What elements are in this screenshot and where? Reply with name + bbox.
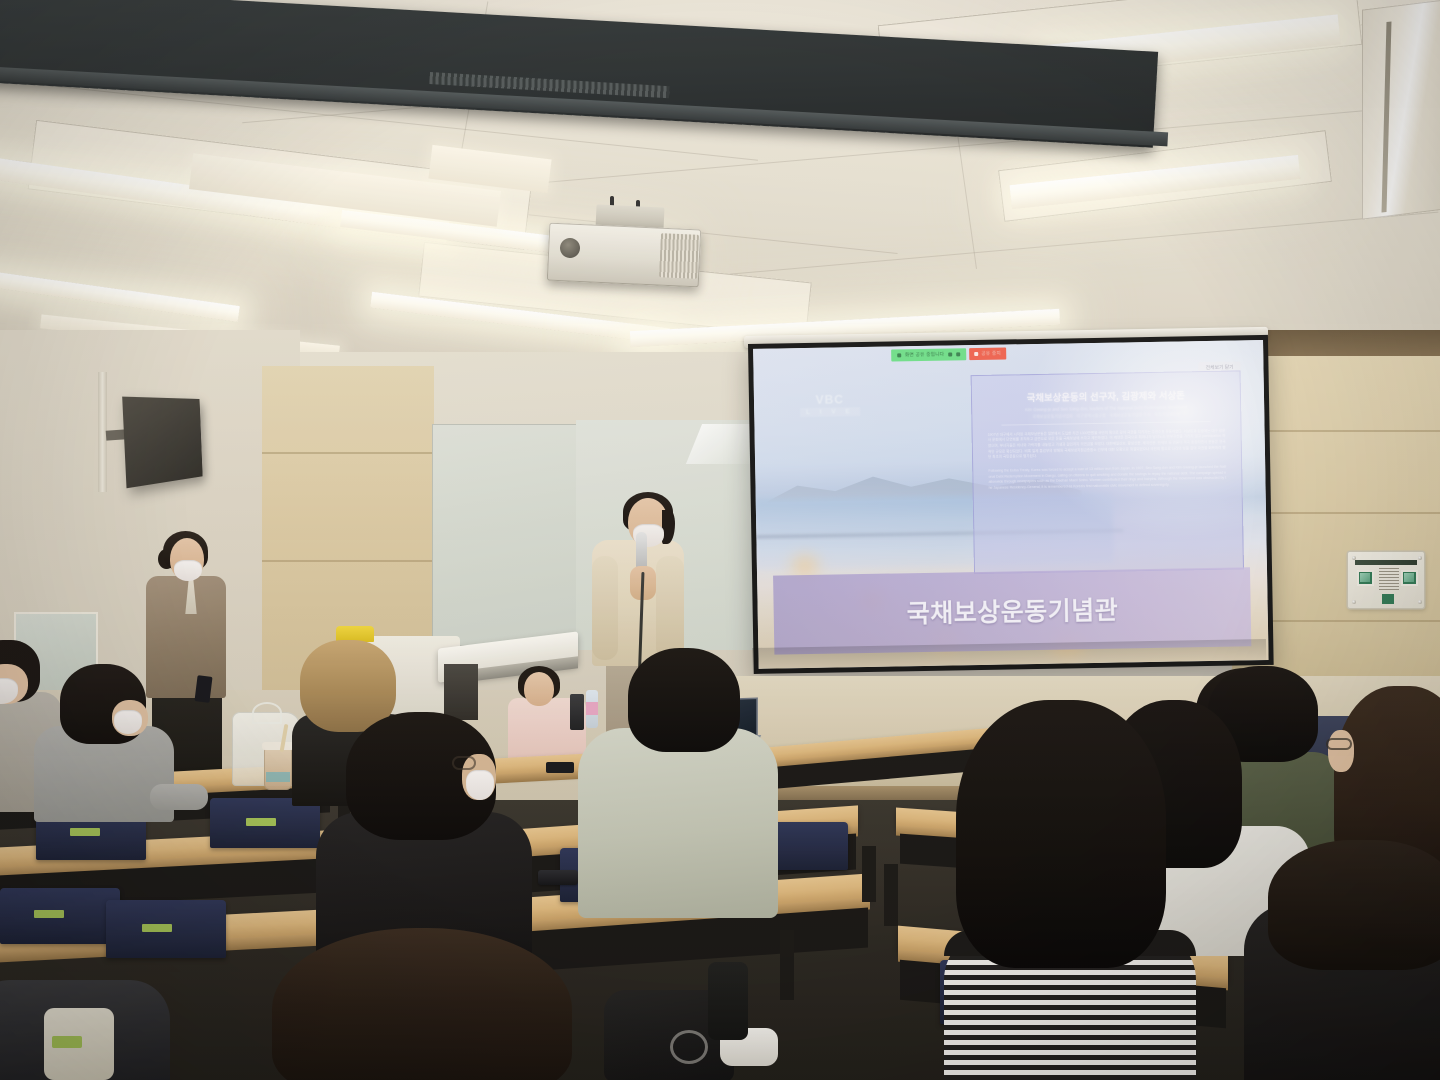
slide-text-card: 국채보상운동의 선구자, 김광제와 서상돈 Kim Gwang-je and S… bbox=[970, 371, 1244, 574]
slide-title: 국채보상운동의 선구자, 김광제와 서상돈 bbox=[987, 386, 1225, 404]
smartphone-front-desk[interactable] bbox=[538, 870, 578, 885]
chair-label bbox=[246, 818, 276, 826]
water-bottle-label bbox=[586, 702, 598, 715]
stop-share-label: 공유 중지 bbox=[981, 351, 1001, 357]
slide-view-toggle-label: 전체보기 닫기 bbox=[1206, 363, 1234, 370]
audience-hair bbox=[1268, 840, 1440, 970]
bag-handle bbox=[252, 702, 282, 724]
audience-hair bbox=[956, 700, 1166, 968]
chair-label bbox=[142, 924, 172, 932]
vbc-live-watermark: VBC L I V E bbox=[800, 392, 860, 417]
attendant-face-mask bbox=[174, 560, 202, 581]
exit-pictogram-right bbox=[1401, 570, 1418, 586]
audience-face-mask bbox=[466, 770, 494, 800]
chair-label bbox=[34, 910, 64, 918]
panel-screw bbox=[1418, 600, 1422, 604]
wall-mounted-tv bbox=[122, 397, 202, 489]
wood-panel-seam bbox=[262, 452, 434, 454]
wood-panel-seam bbox=[262, 560, 434, 562]
slide-body-korean: 1907년 대구에서 시작된 국채보상운동은 일본에서 도입한 차관 1300만… bbox=[988, 428, 1226, 460]
projection-screen[interactable]: 화면 공유 중입니다 공유 중지 전체보기 닫기 VBC L I V E bbox=[748, 335, 1274, 674]
desk-leg bbox=[862, 846, 876, 902]
presenter-right-arm bbox=[656, 556, 684, 660]
desk-leg bbox=[884, 864, 898, 926]
audience-eyeglasses bbox=[452, 756, 476, 770]
iced-drink-cup[interactable] bbox=[264, 748, 292, 790]
bag-tag bbox=[52, 1036, 82, 1048]
share-status-label: 화면 공유 중입니다 bbox=[905, 352, 944, 359]
lectern-equipment-bay bbox=[444, 664, 478, 720]
audience-face-mask bbox=[114, 710, 142, 734]
panel-screw bbox=[1418, 556, 1422, 560]
slide-band-title: 국채보상운동기념관 bbox=[906, 591, 1118, 631]
panel-header-bar bbox=[1355, 560, 1417, 565]
desk-leg bbox=[780, 930, 794, 1000]
attendant-blazer bbox=[146, 576, 226, 698]
stop-share-button[interactable]: 공유 중지 bbox=[969, 348, 1006, 360]
host-face bbox=[524, 672, 554, 706]
presenter-left-arm bbox=[592, 556, 618, 660]
black-tumbler[interactable] bbox=[570, 694, 584, 730]
vbc-watermark-bottom: L I V E bbox=[800, 407, 860, 417]
projected-slide: 화면 공유 중입니다 공유 중지 전체보기 닫기 VBC L I V E bbox=[753, 340, 1269, 669]
audience-face bbox=[1328, 730, 1354, 772]
audience-tshirt bbox=[578, 728, 778, 918]
panel-screw bbox=[1352, 600, 1356, 604]
backpack-logo bbox=[670, 1030, 708, 1064]
cup-label-band bbox=[266, 772, 290, 782]
panel-badge-icon bbox=[1382, 594, 1394, 604]
share-status-pill[interactable]: 화면 공유 중입니다 bbox=[891, 348, 967, 361]
share-screen-icon bbox=[897, 353, 901, 357]
mic-icon[interactable] bbox=[948, 352, 952, 356]
audience-hair bbox=[628, 648, 740, 752]
camera-icon[interactable] bbox=[956, 352, 960, 356]
audience-eyeglasses bbox=[1326, 738, 1352, 750]
trouser-leg bbox=[708, 962, 748, 1040]
audience-arm bbox=[150, 784, 208, 810]
slide-body-english: Following the Eulsa Treaty, Korea was fo… bbox=[988, 465, 1226, 492]
slide-divider bbox=[1002, 421, 1211, 426]
panel-instruction-text bbox=[1379, 568, 1399, 590]
chair-label bbox=[70, 828, 100, 836]
stop-icon bbox=[974, 352, 978, 356]
vbc-watermark-top: VBC bbox=[800, 392, 860, 407]
screen-share-toolbar[interactable]: 화면 공유 중입니다 공유 중지 bbox=[891, 348, 1006, 362]
exit-pictogram-left bbox=[1357, 570, 1374, 586]
audience-hair bbox=[272, 928, 572, 1080]
smartphone-on-desk[interactable] bbox=[546, 762, 574, 773]
cup-lid bbox=[262, 742, 294, 750]
lecture-hall-photo: 화면 공유 중입니다 공유 중지 전체보기 닫기 VBC L I V E bbox=[0, 0, 1440, 1080]
attendant-smartphone[interactable] bbox=[194, 675, 212, 703]
ceiling-air-diffuser bbox=[1362, 0, 1440, 220]
projector-vent bbox=[659, 233, 699, 279]
